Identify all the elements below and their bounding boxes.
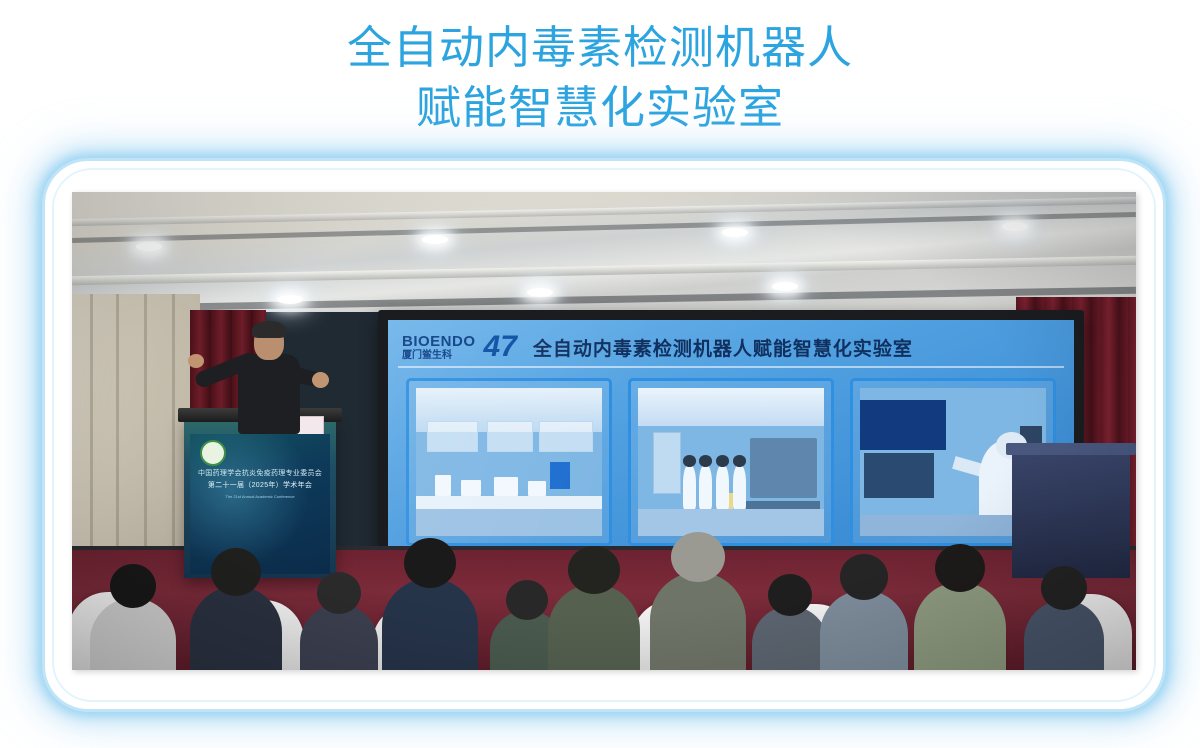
- audience-person: [300, 604, 378, 670]
- audience: [72, 490, 1136, 670]
- ceiling-spot-light: [527, 288, 553, 297]
- audience-person: [90, 598, 176, 670]
- bioendo-logo: BIOENDO 厦门鲎生科: [402, 334, 476, 361]
- podium-banner-line-1: 中国药理学会抗炎免疫药理专业委员会: [198, 468, 322, 478]
- ceiling-spot-light: [422, 235, 448, 244]
- ceiling: [72, 192, 1136, 312]
- brand-mark-icon: 47: [484, 332, 517, 362]
- ceiling-spot-light: [136, 242, 162, 251]
- podium-banner-line-2: 第二十一届（2025年）学术年会: [198, 480, 322, 490]
- conference-logo-icon: [200, 440, 226, 466]
- page-title: 全自动内毒素检测机器人 赋能智慧化实验室: [0, 18, 1200, 138]
- ceiling-spot-light: [1002, 222, 1028, 231]
- audience-person: [650, 572, 746, 670]
- speaker-figure: [200, 324, 318, 432]
- conference-photo: BIOENDO 厦门鲎生科 47 全自动内毒素检测机器人赋能智慧化实验室: [72, 192, 1136, 670]
- slide-title: 全自动内毒素检测机器人赋能智慧化实验室: [533, 334, 913, 361]
- audience-person: [820, 590, 908, 670]
- audience-person: [190, 586, 282, 670]
- brand-name-cn: 厦门鲎生科: [402, 351, 476, 361]
- ceiling-spot-light: [277, 295, 303, 304]
- audience-person: [382, 578, 478, 670]
- audience-person: [1024, 600, 1104, 670]
- page-root: 全自动内毒素检测机器人 赋能智慧化实验室: [0, 0, 1200, 748]
- slide-header-divider: [398, 366, 1064, 368]
- brand-name-en: BIOENDO: [402, 334, 476, 349]
- audience-person: [914, 582, 1006, 670]
- page-title-line-1: 全自动内毒素检测机器人: [0, 18, 1200, 78]
- page-title-line-2: 赋能智慧化实验室: [0, 78, 1200, 138]
- ceiling-spot-light: [772, 282, 798, 291]
- ceiling-spot-light: [722, 228, 748, 237]
- slide-header: BIOENDO 厦门鲎生科 47 全自动内毒素检测机器人赋能智慧化实验室: [402, 330, 1064, 364]
- audience-person: [548, 584, 640, 670]
